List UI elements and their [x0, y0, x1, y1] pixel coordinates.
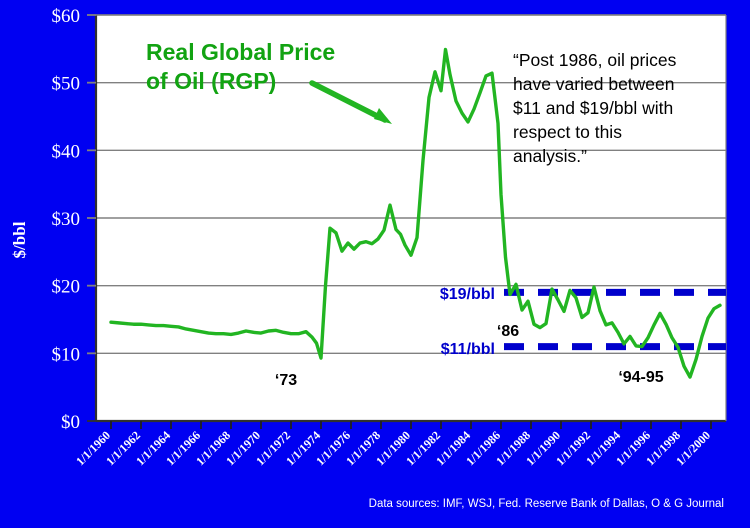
y-tick-label: $30	[52, 209, 81, 230]
quote-line-2: have varied between	[513, 74, 675, 94]
y-tick-label: $40	[52, 141, 81, 162]
series-title-line1: Real Global Price	[146, 39, 335, 65]
y-tick-label: $60	[52, 6, 81, 27]
y-tick-label: $50	[52, 74, 81, 95]
series-title-line2: of Oil (RGP)	[146, 68, 276, 94]
y-tick-label: $10	[52, 344, 81, 365]
slide-canvas: $0$10$20$30$40$50$60 1/1/19601/1/19621/1…	[0, 0, 750, 528]
y-tick-label: $20	[52, 277, 81, 298]
event-label-1973: ‘73	[275, 372, 297, 389]
event-label-1994-95: ‘94-95	[618, 369, 663, 386]
quote-line-3: $11 and $19/bbl with	[513, 98, 673, 118]
y-axis-title: $/bbl	[10, 221, 29, 258]
event-label-1986: ‘86	[497, 323, 519, 340]
data-source-note: Data sources: IMF, WSJ, Fed. Reserve Ban…	[369, 498, 724, 510]
oil-price-chart: $0$10$20$30$40$50$60 1/1/19601/1/19621/1…	[0, 0, 750, 528]
quote-line-4: respect to this	[513, 122, 622, 142]
x-axis-ticks	[111, 421, 711, 429]
quote-line-5: analysis.”	[513, 146, 587, 166]
y-tick-label: $0	[61, 412, 80, 433]
quote-line-1: “Post 1986, oil prices	[513, 50, 677, 70]
band-high-label: $19/bbl	[440, 286, 495, 303]
band-low-label: $11/bbl	[441, 341, 495, 358]
